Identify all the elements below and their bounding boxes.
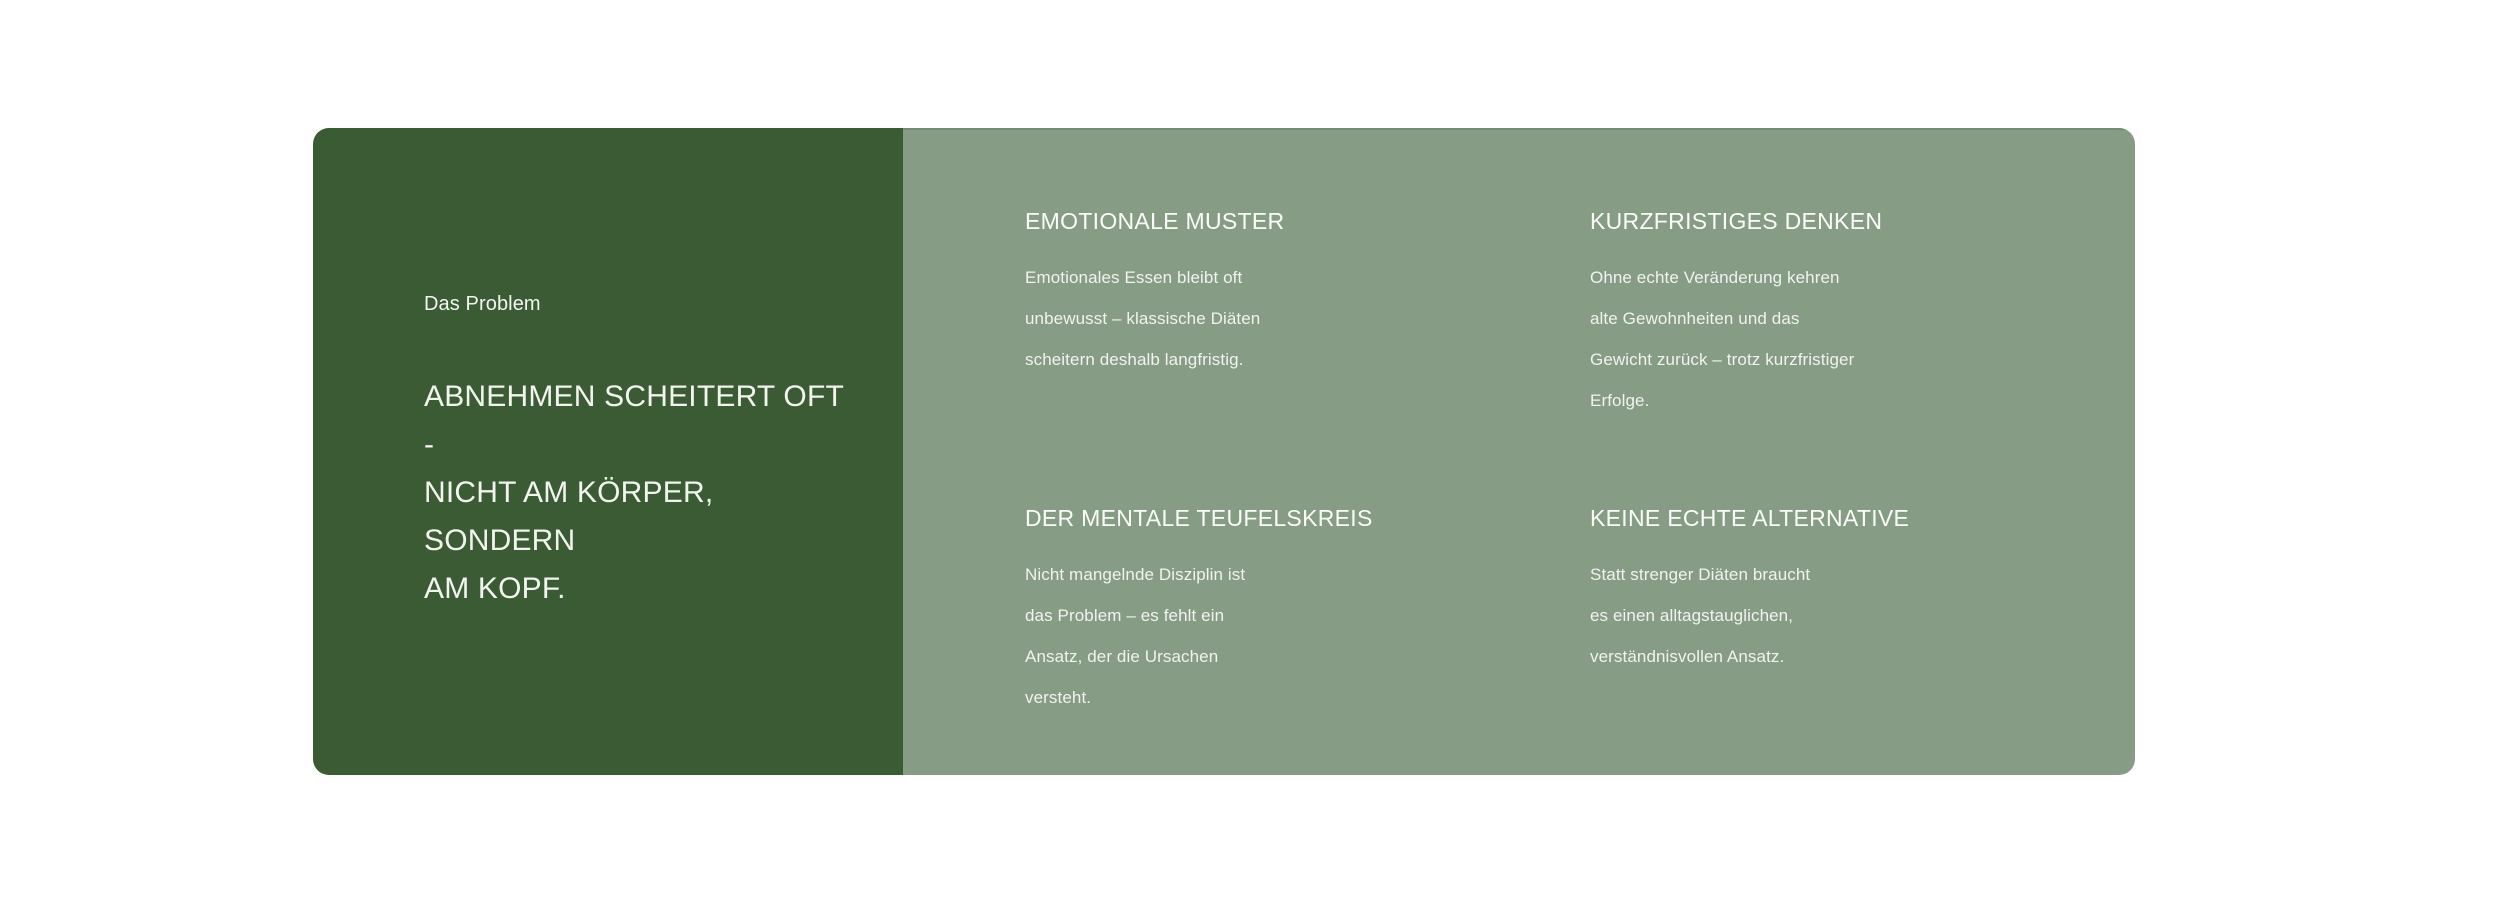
page-title: ABNEHMEN SCHEITERT OFT - NICHT AM KÖRPER… — [424, 373, 854, 613]
problem-section: Das Problem ABNEHMEN SCHEITERT OFT - NIC… — [313, 128, 2135, 775]
reason-text: Emotionales Essen bleibt oft unbewusst –… — [1025, 257, 1425, 380]
reason-text-line: Ohne echte Veränderung kehren — [1590, 257, 2010, 298]
reason-text: Ohne echte Veränderung kehren alte Gewoh… — [1590, 257, 2010, 421]
reason-text-line: Emotionales Essen bleibt oft — [1025, 257, 1425, 298]
reason-text-line: unbewusst – klassische Diäten — [1025, 298, 1425, 339]
reasons-panel: EMOTIONALE MUSTER Emotionales Essen blei… — [903, 128, 2135, 775]
reason-text: Statt strenger Diäten braucht es einen a… — [1590, 554, 1990, 677]
reason-text-line: Gewicht zurück – trotz kurzfristiger — [1590, 339, 2010, 380]
reason-title: EMOTIONALE MUSTER — [1025, 206, 1425, 236]
reason-text-line: scheitern deshalb langfristig. — [1025, 339, 1425, 380]
reason-text-line: verständnisvollen Ansatz. — [1590, 636, 1990, 677]
reason-card-kurzfristiges-denken: KURZFRISTIGES DENKEN Ohne echte Veränder… — [1590, 206, 2010, 421]
reason-text-line: Nicht mangelnde Disziplin ist — [1025, 554, 1425, 595]
reason-text-line: Statt strenger Diäten braucht — [1590, 554, 1990, 595]
headline-line-3: AM KOPF. — [424, 565, 854, 613]
headline-line-1: ABNEHMEN SCHEITERT OFT - — [424, 373, 854, 469]
reason-title: KEINE ECHTE ALTERNATIVE — [1590, 503, 1990, 533]
reason-title: DER MENTALE TEUFELSKREIS — [1025, 503, 1425, 533]
reason-text-line: Erfolge. — [1590, 380, 2010, 421]
reason-text-line: das Problem – es fehlt ein — [1025, 595, 1425, 636]
reason-card-keine-echte-alternative: KEINE ECHTE ALTERNATIVE Statt strenger D… — [1590, 503, 1990, 718]
reason-text-line: versteht. — [1025, 677, 1425, 718]
reason-title: KURZFRISTIGES DENKEN — [1590, 206, 2010, 236]
reason-text-line: alte Gewohnheiten und das — [1590, 298, 2010, 339]
reasons-grid: EMOTIONALE MUSTER Emotionales Essen blei… — [1025, 206, 2135, 718]
reason-card-mentale-teufelskreis: DER MENTALE TEUFELSKREIS Nicht mangelnde… — [1025, 503, 1425, 718]
headline-line-2: NICHT AM KÖRPER, SONDERN — [424, 469, 854, 565]
reason-text: Nicht mangelnde Disziplin ist das Proble… — [1025, 554, 1425, 718]
reason-card-emotionale-muster: EMOTIONALE MUSTER Emotionales Essen blei… — [1025, 206, 1425, 421]
intro-panel: Das Problem ABNEHMEN SCHEITERT OFT - NIC… — [313, 128, 903, 775]
reason-text-line: Ansatz, der die Ursachen — [1025, 636, 1425, 677]
reason-text-line: es einen alltagstauglichen, — [1590, 595, 1990, 636]
page-canvas: Das Problem ABNEHMEN SCHEITERT OFT - NIC… — [0, 0, 2500, 900]
section-eyebrow: Das Problem — [424, 291, 903, 317]
